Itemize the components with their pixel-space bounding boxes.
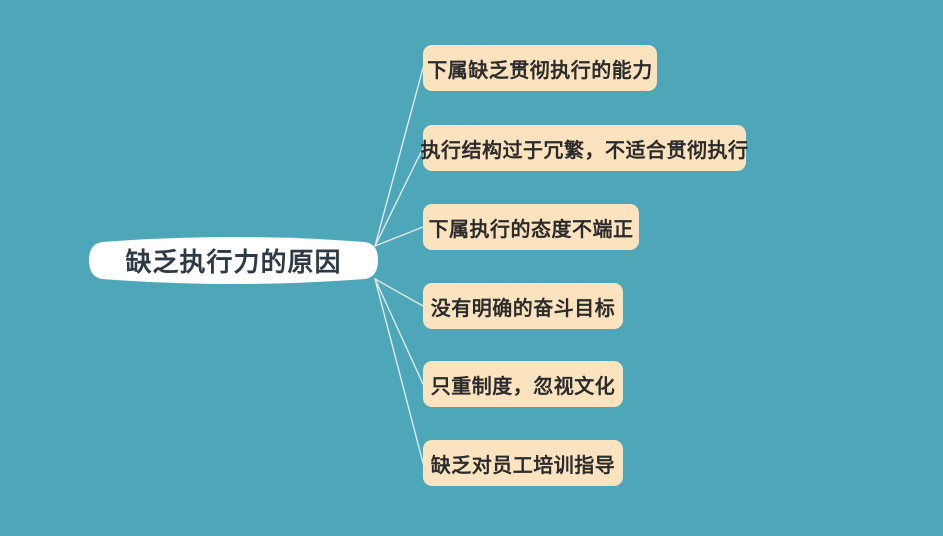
mindmap-canvas: 缺乏执行力的原因 下属缺乏贯彻执行的能力执行结构过于冗繁，不适合贯彻执行下属执行… <box>0 0 943 536</box>
branch-node[interactable]: 下属执行的态度不端正 <box>423 204 639 250</box>
branch-node[interactable]: 缺乏对员工培训指导 <box>423 440 623 486</box>
branch-node-label: 下属执行的态度不端正 <box>429 213 634 242</box>
branch-node-label: 下属缺乏贯彻执行的能力 <box>427 54 653 83</box>
connector-line <box>375 148 423 246</box>
connector-line <box>375 279 423 306</box>
central-topic-label: 缺乏执行力的原因 <box>88 230 379 291</box>
branch-node[interactable]: 执行结构过于冗繁，不适合贯彻执行 <box>423 125 746 171</box>
branch-node[interactable]: 没有明确的奋斗目标 <box>423 283 623 329</box>
branch-node-label: 只重制度，忽视文化 <box>431 370 616 399</box>
branch-node-label: 执行结构过于冗繁，不适合贯彻执行 <box>421 134 749 163</box>
branch-node-label: 缺乏对员工培训指导 <box>431 449 616 478</box>
connector-line <box>375 227 423 246</box>
central-topic-node[interactable]: 缺乏执行力的原因 <box>88 230 379 291</box>
branch-node-label: 没有明确的奋斗目标 <box>431 292 616 321</box>
connector-line <box>375 279 423 463</box>
connector-line <box>375 68 423 246</box>
branch-node[interactable]: 只重制度，忽视文化 <box>423 361 623 407</box>
branch-node[interactable]: 下属缺乏贯彻执行的能力 <box>423 45 657 91</box>
connector-line <box>375 279 423 384</box>
